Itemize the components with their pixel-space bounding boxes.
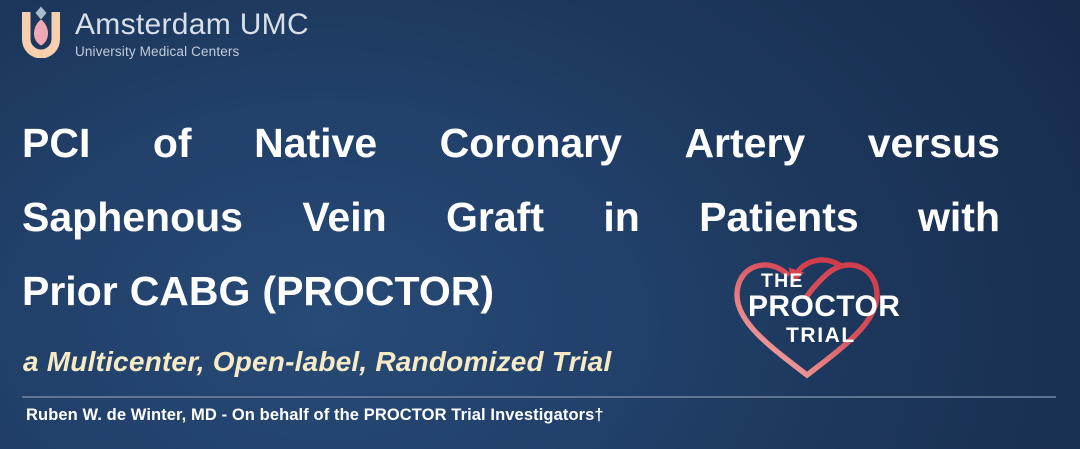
title-word: with xyxy=(918,180,1000,254)
page-subtitle: a Multicenter, Open-label, Randomized Tr… xyxy=(23,346,611,378)
tulip-logo-icon xyxy=(18,6,64,58)
title-word: Graft xyxy=(446,180,544,254)
title-slide: Amsterdam UMC University Medical Centers… xyxy=(0,0,1080,449)
proctor-logo-line-the: THE xyxy=(761,270,804,292)
author-line: Ruben W. de Winter, MD - On behalf of th… xyxy=(26,406,604,425)
divider xyxy=(22,396,1056,398)
title-word: Saphenous xyxy=(22,180,243,254)
brand-subtitle: University Medical Centers xyxy=(75,44,309,59)
proctor-logo-line-trial: TRIAL xyxy=(786,324,856,347)
title-word: Native xyxy=(254,106,377,180)
title-word: Coronary xyxy=(440,106,622,180)
title-word: Vein xyxy=(302,180,386,254)
title-word: (PROCTOR) xyxy=(262,254,494,328)
title-word: CABG xyxy=(130,254,251,328)
title-line: PCIofNativeCoronaryArteryversus xyxy=(22,106,1000,180)
title-word: of xyxy=(153,106,192,180)
title-line: SaphenousVeinGraftinPatientswith xyxy=(22,180,1000,254)
title-word: Patients xyxy=(699,180,859,254)
title-word: versus xyxy=(868,106,1000,180)
amsterdam-umc-brand: Amsterdam UMC University Medical Centers xyxy=(18,6,309,59)
title-word: Artery xyxy=(684,106,805,180)
brand-wordmark: Amsterdam UMC University Medical Centers xyxy=(75,6,309,59)
title-word: Prior xyxy=(22,254,118,328)
title-word: in xyxy=(603,180,639,254)
proctor-trial-logo: THE PROCTOR TRIAL xyxy=(723,250,905,380)
title-word: PCI xyxy=(22,106,90,180)
brand-name: Amsterdam UMC xyxy=(75,10,309,41)
proctor-logo-line-proctor: PROCTOR xyxy=(748,290,900,323)
